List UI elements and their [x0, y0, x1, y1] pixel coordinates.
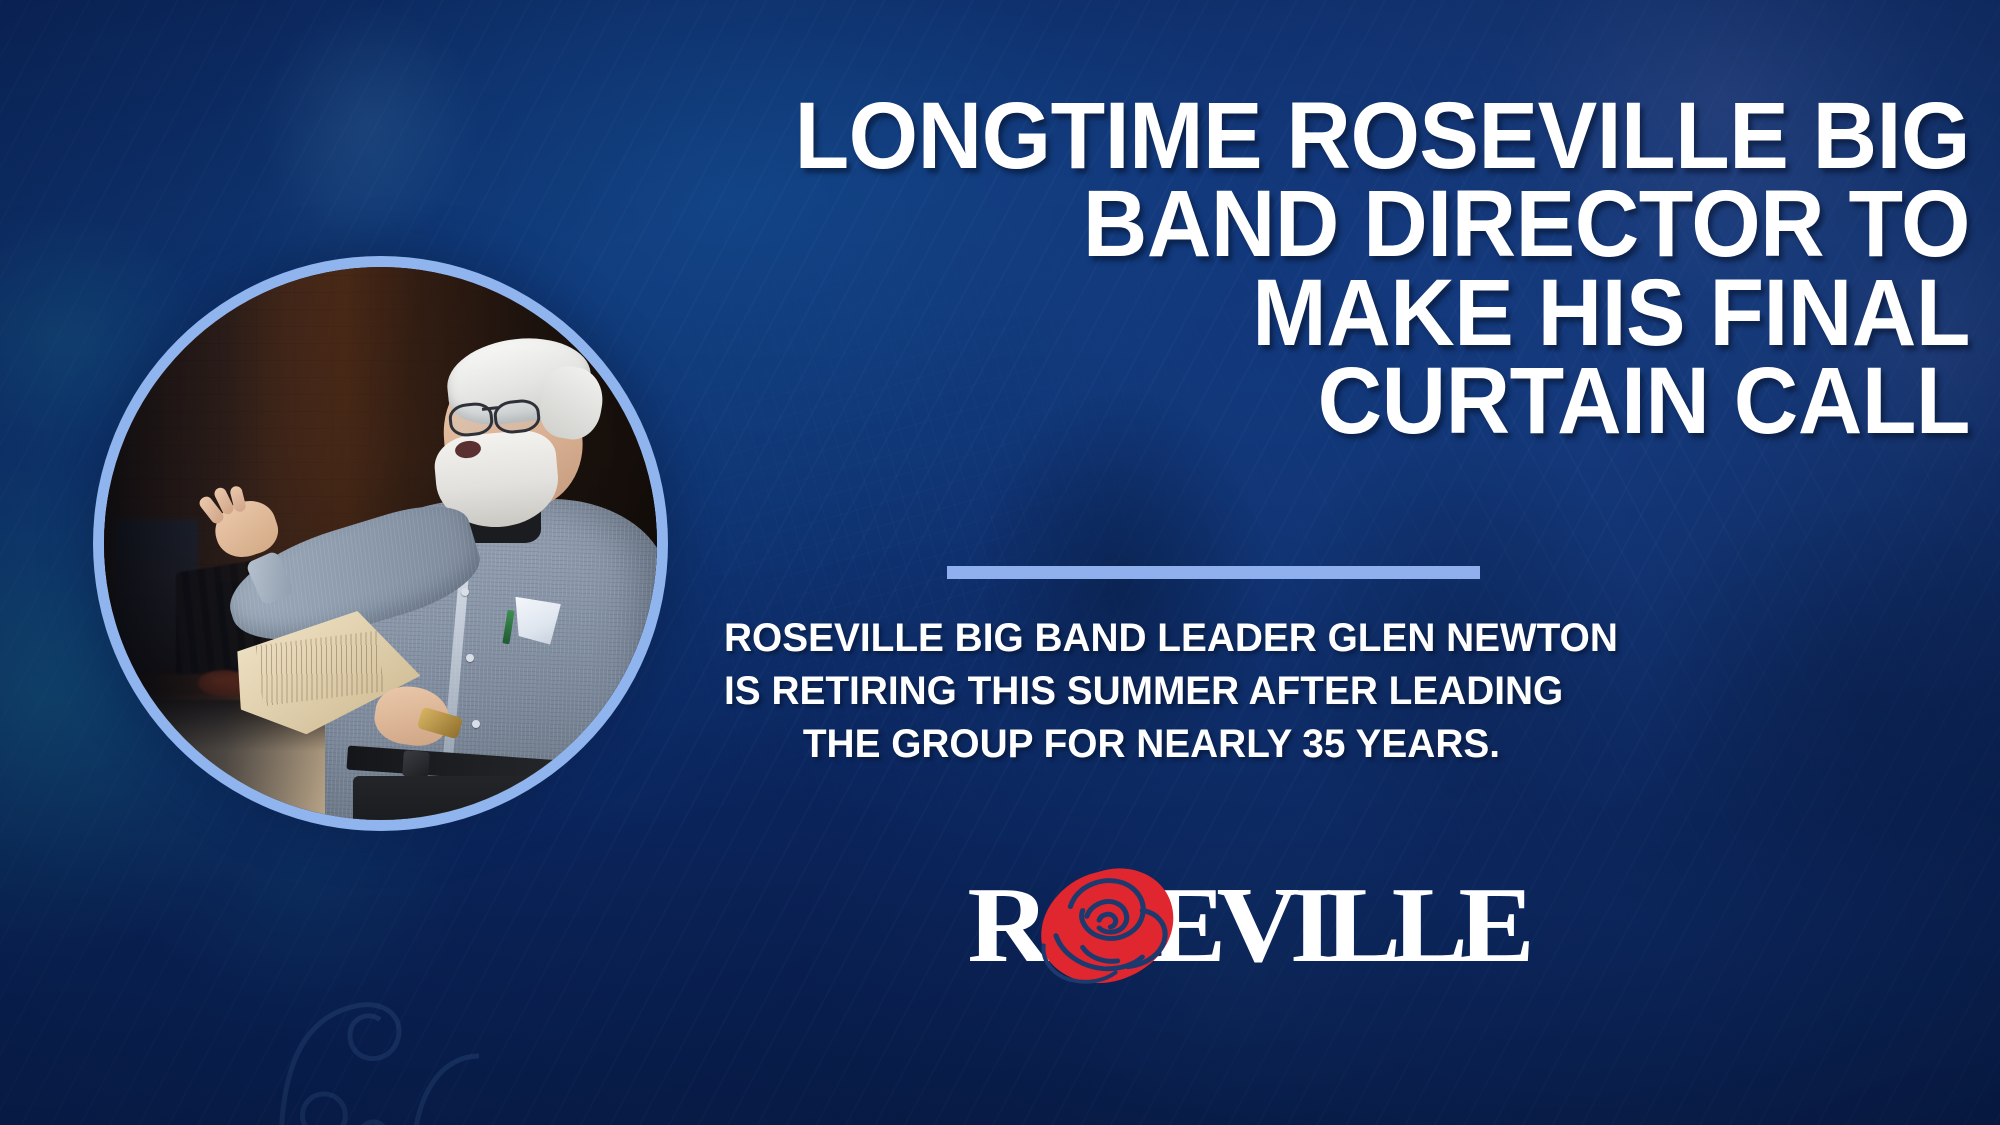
subject-belt-buckle	[402, 751, 430, 779]
subtitle-line-1: ROSEVILLE BIG BAND LEADER GLEN NEWTON	[724, 612, 1500, 665]
headline-line-2: BAND DIRECTOR TO	[776, 180, 1970, 268]
page-title: LONGTIME ROSEVILLE BIG BAND DIRECTOR TO …	[776, 92, 1970, 445]
headline-line-3: MAKE HIS FINAL	[776, 269, 1970, 357]
subtitle-line-2: IS RETIRING THIS SUMMER AFTER LEADING	[724, 665, 1500, 718]
photo-subject	[104, 267, 657, 820]
subtitle-line-3: THE GROUP FOR NEARLY 35 YEARS.	[724, 718, 1500, 771]
portrait-photo	[104, 267, 657, 820]
roseville-logo: RSEVILLE	[995, 866, 1525, 986]
subject-trousers	[353, 776, 618, 820]
headline-line-4: CURTAIN CALL	[776, 357, 1970, 445]
headline-line-1: LONGTIME ROSEVILLE BIG	[776, 92, 1970, 180]
logo-letter-r: R	[967, 866, 1040, 985]
divider	[947, 566, 1480, 579]
promo-graphic: LONGTIME ROSEVILLE BIG BAND DIRECTOR TO …	[0, 0, 2000, 1125]
subject-shirt-button	[461, 588, 469, 596]
roseville-wordmark: RSEVILLE	[967, 872, 1525, 980]
rose-icon	[1035, 864, 1179, 988]
avatar	[93, 256, 668, 831]
subtitle: ROSEVILLE BIG BAND LEADER GLEN NEWTON IS…	[724, 612, 1500, 770]
